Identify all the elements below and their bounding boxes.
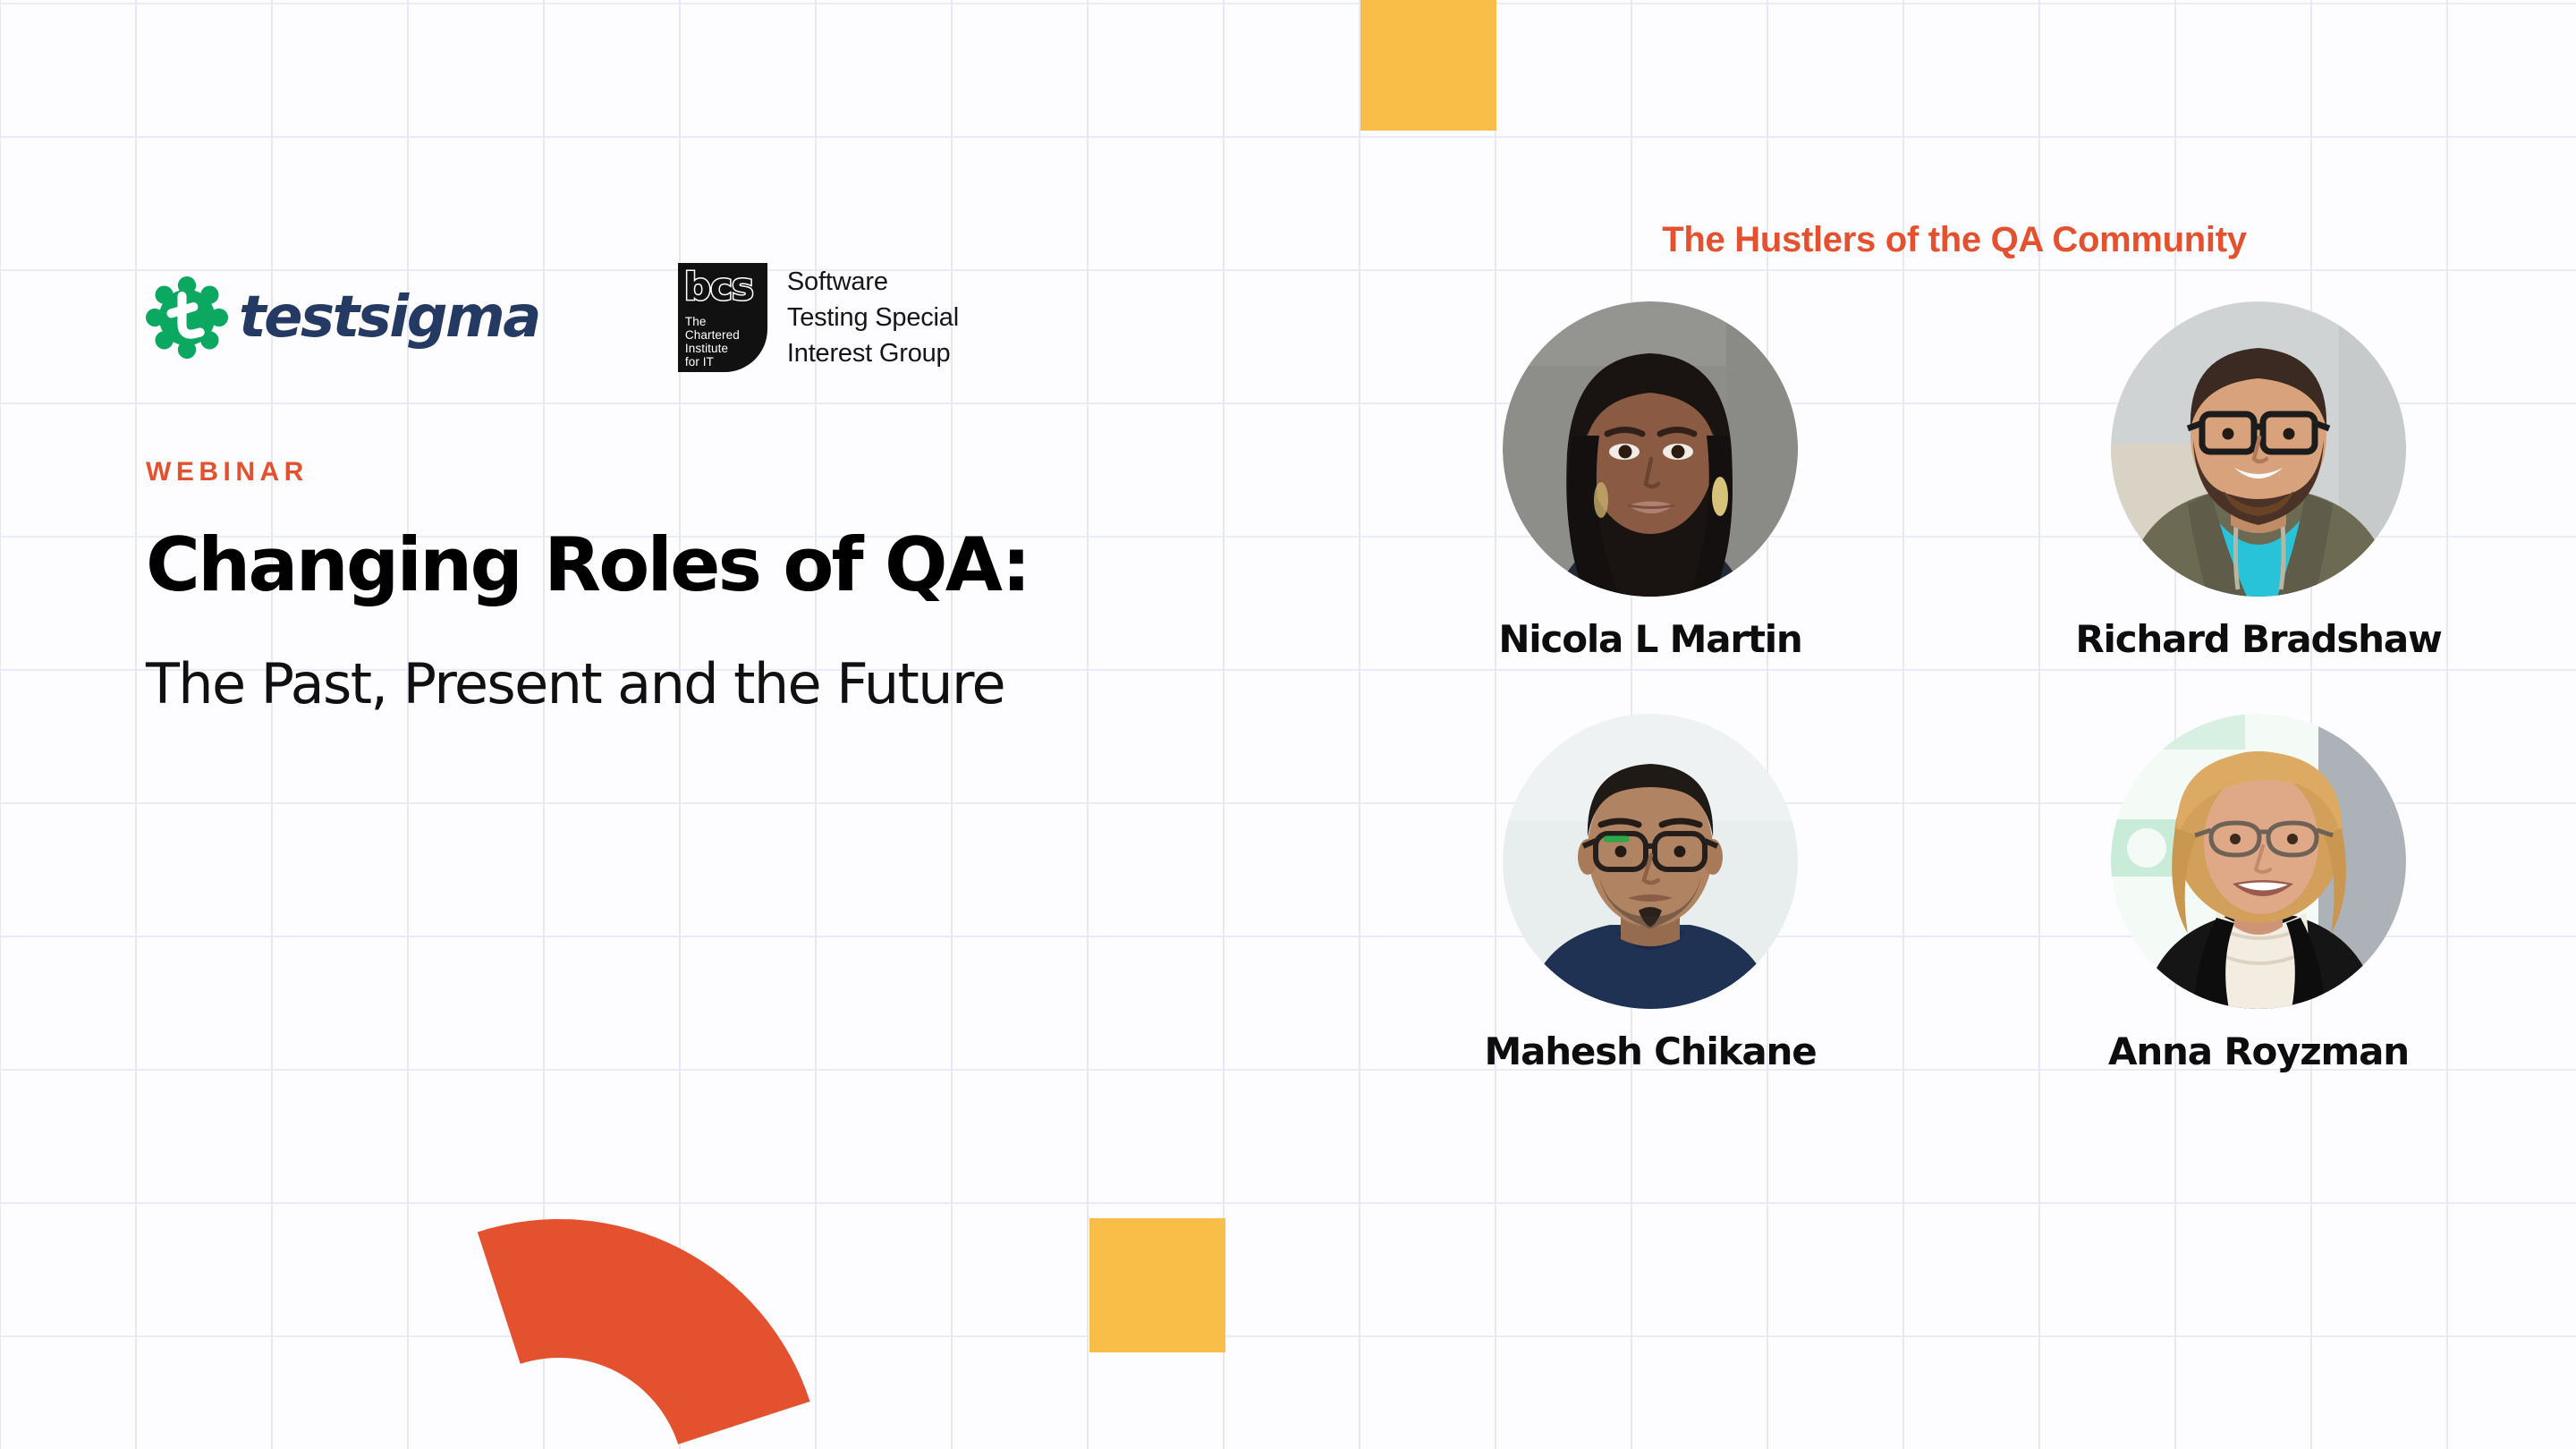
webinar-slide: testsigma bcs The Chartered Institute fo… — [0, 0, 2576, 1449]
speakers-grid: Nicola L Martin — [1458, 301, 2451, 1071]
testsigma-gear-icon — [146, 276, 228, 359]
bcs-logo: bcs The Chartered Institute for IT Softw… — [678, 263, 959, 372]
speaker-card: Mahesh Chikane — [1458, 714, 1843, 1071]
bcs-wordmark: bcs — [684, 268, 753, 306]
yellow-square-top-decoration — [1360, 0, 1496, 131]
logo-row: testsigma bcs The Chartered Institute fo… — [146, 268, 1309, 367]
avatar — [2111, 714, 2406, 1009]
speaker-card: Nicola L Martin — [1458, 301, 1843, 658]
bcs-group-name: Software Testing Special Interest Group — [787, 264, 959, 371]
avatar — [1503, 301, 1798, 597]
speaker-card: Richard Bradshaw — [2066, 301, 2451, 658]
speaker-name: Anna Royzman — [2108, 1033, 2409, 1071]
speaker-name: Nicola L Martin — [1498, 621, 1801, 658]
bcs-shield-subtitle: The Chartered Institute for IT — [685, 315, 740, 369]
page-title: Changing Roles of QA: — [146, 526, 1309, 604]
testsigma-wordmark: testsigma — [239, 289, 539, 346]
bcs-shield-icon: bcs The Chartered Institute for IT — [678, 263, 767, 372]
avatar — [1503, 714, 1798, 1009]
speakers-panel-title: The Hustlers of the QA Community — [1458, 222, 2451, 258]
avatar — [2111, 301, 2406, 597]
speaker-name: Richard Bradshaw — [2075, 621, 2441, 658]
speaker-name: Mahesh Chikane — [1484, 1033, 1816, 1071]
orange-arc-decoration — [376, 1199, 930, 1449]
testsigma-logo: testsigma — [146, 276, 539, 359]
speaker-card: Anna Royzman — [2066, 714, 2451, 1071]
yellow-square-bottom-decoration — [1089, 1218, 1225, 1352]
webinar-eyebrow-label: WEBINAR — [146, 459, 1309, 486]
page-subtitle: The Past, Present and the Future — [146, 654, 1309, 715]
speakers-panel: The Hustlers of the QA Community — [1458, 222, 2451, 1071]
left-content-column: testsigma bcs The Chartered Institute fo… — [146, 268, 1309, 715]
